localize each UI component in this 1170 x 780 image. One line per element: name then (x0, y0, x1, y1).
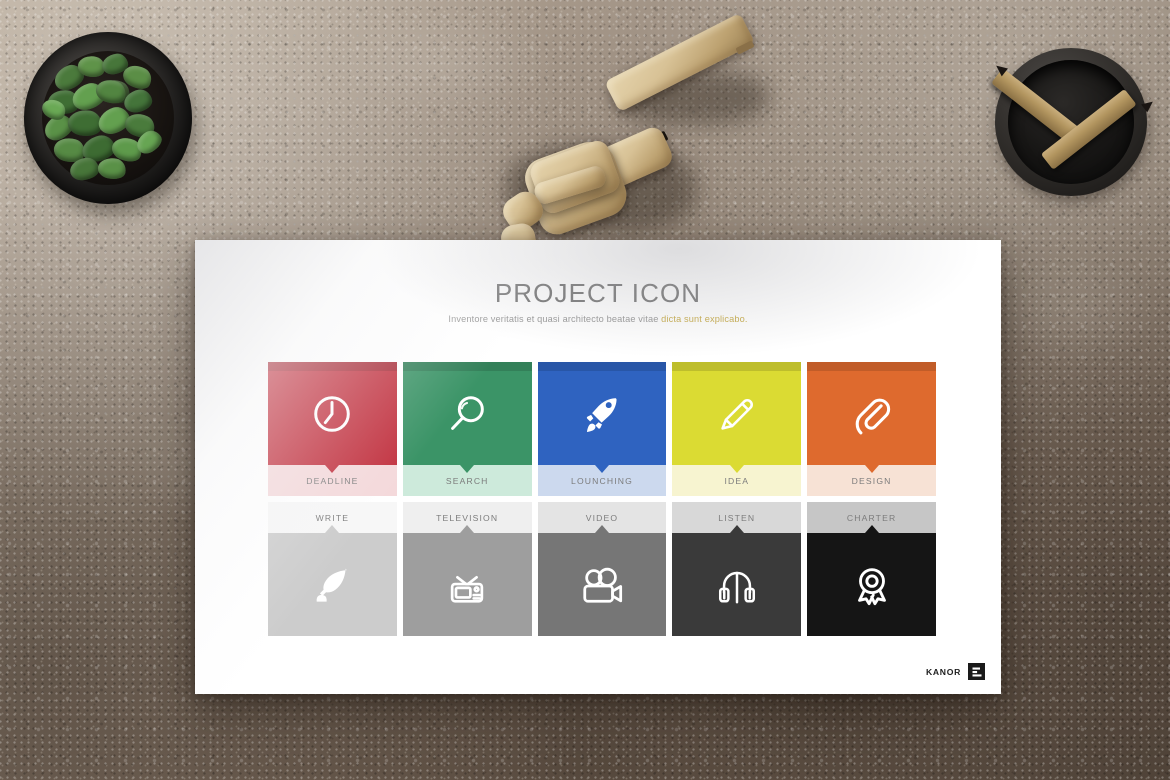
band-pointer-icon (595, 465, 609, 473)
slide-subtitle: Inventore veritatis et quasi architecto … (195, 315, 1001, 324)
block-top-shade (538, 362, 667, 371)
icon-card-band: SEARCH (403, 465, 532, 496)
icon-card-label: DEADLINE (306, 476, 358, 486)
pencil-bowl (995, 48, 1147, 196)
rocket-icon (579, 391, 625, 437)
slide-header: PROJECT ICON Inventore veritatis et quas… (195, 280, 1001, 324)
icon-card-block (538, 362, 667, 465)
block-top-shade (268, 362, 397, 371)
icon-card-write[interactable]: WRITE (268, 502, 397, 636)
kanor-logo: KANOR (926, 663, 985, 680)
band-pointer-icon (460, 465, 474, 473)
icon-card-band: LISTEN (672, 502, 801, 533)
icon-card-block (672, 362, 801, 465)
icon-card-block (672, 533, 801, 636)
award-rosette-icon (849, 562, 895, 608)
icon-card-band: WRITE (268, 502, 397, 533)
icon-card-design[interactable]: DESIGN (807, 362, 936, 496)
icon-card-charter[interactable]: CHARTER (807, 502, 936, 636)
potted-plant (24, 32, 194, 210)
icon-card-label: DESIGN (852, 476, 892, 486)
icon-card-band: CHARTER (807, 502, 936, 533)
headphones-icon (714, 562, 760, 608)
icon-card-block (538, 533, 667, 636)
icon-card-label: LOUNCHING (571, 476, 633, 486)
icon-card-block (807, 362, 936, 465)
logo-mark (968, 663, 985, 680)
slide-subtitle-highlight: dicta sunt explicabo. (661, 314, 747, 324)
icon-card-band: DESIGN (807, 465, 936, 496)
icon-card-band: VIDEO (538, 502, 667, 533)
icon-card-grid-row-2: WRITE TELEVISION (268, 502, 936, 636)
icon-card-video[interactable]: VIDEO (538, 502, 667, 636)
block-top-shade (807, 362, 936, 371)
icon-card-label: LISTEN (718, 513, 755, 523)
abstract-bar-mark-icon (971, 666, 983, 678)
icon-card-block (403, 533, 532, 636)
desk-scene: PROJECT ICON Inventore veritatis et quas… (0, 0, 1170, 780)
icon-card-band: DEADLINE (268, 465, 397, 496)
icon-card-listen[interactable]: LISTEN (672, 502, 801, 636)
magnifier-icon (444, 391, 490, 437)
icon-card-television[interactable]: TELEVISION (403, 502, 532, 636)
icon-card-block (807, 533, 936, 636)
television-icon (444, 562, 490, 608)
page-title: PROJECT ICON (195, 280, 1001, 306)
block-top-shade (403, 362, 532, 371)
clock-icon (309, 391, 355, 437)
band-pointer-icon (460, 525, 474, 533)
band-pointer-icon (325, 525, 339, 533)
icon-card-band: LOUNCHING (538, 465, 667, 496)
band-pointer-icon (730, 465, 744, 473)
icon-card-label: VIDEO (586, 513, 619, 523)
quill-feather-icon (309, 562, 355, 608)
band-pointer-icon (595, 525, 609, 533)
icon-card-label: CHARTER (847, 513, 896, 523)
presentation-slide: PROJECT ICON Inventore veritatis et quas… (195, 240, 1001, 694)
slide-subtitle-plain: Inventore veritatis et quasi architecto … (448, 314, 661, 324)
band-pointer-icon (730, 525, 744, 533)
icon-card-lounching[interactable]: LOUNCHING (538, 362, 667, 496)
logo-wordmark: KANOR (926, 667, 961, 677)
icon-card-search[interactable]: SEARCH (403, 362, 532, 496)
icon-card-band: IDEA (672, 465, 801, 496)
icon-card-block (403, 362, 532, 465)
band-pointer-icon (865, 465, 879, 473)
icon-card-deadline[interactable]: DEADLINE (268, 362, 397, 496)
paperclip-icon (849, 391, 895, 437)
icon-card-band: TELEVISION (403, 502, 532, 533)
block-top-shade (672, 362, 801, 371)
icon-card-label: SEARCH (446, 476, 489, 486)
icon-card-label: WRITE (316, 513, 349, 523)
pencil-icon (714, 391, 760, 437)
icon-card-block (268, 533, 397, 636)
video-camera-icon (577, 562, 627, 608)
icon-card-block (268, 362, 397, 465)
band-pointer-icon (325, 465, 339, 473)
plant-leaves (24, 32, 194, 210)
band-pointer-icon (865, 525, 879, 533)
icon-card-grid-row-1: DEADLINE SEARCH (268, 362, 936, 496)
icon-card-idea[interactable]: IDEA (672, 362, 801, 496)
icon-card-label: IDEA (724, 476, 749, 486)
icon-card-label: TELEVISION (436, 513, 498, 523)
